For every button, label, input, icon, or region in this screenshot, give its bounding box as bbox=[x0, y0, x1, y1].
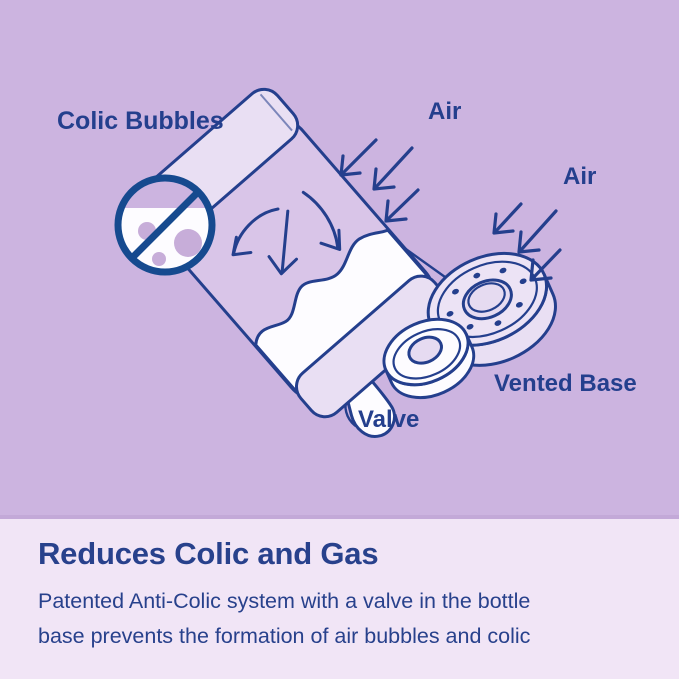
label-vented-base: Vented Base bbox=[494, 370, 637, 398]
caption-panel: Reduces Colic and Gas Patented Anti-Coli… bbox=[0, 519, 679, 679]
label-valve: Valve bbox=[358, 406, 419, 434]
illustration-svg bbox=[0, 0, 679, 517]
caption-title: Reduces Colic and Gas bbox=[38, 536, 378, 572]
label-air-top: Air bbox=[428, 98, 461, 126]
caption-line-2: base prevents the formation of air bubbl… bbox=[38, 624, 530, 649]
label-air-right: Air bbox=[563, 163, 596, 191]
illustration-panel: Colic Bubbles Air Air Valve Vented Base bbox=[0, 0, 679, 517]
caption-line-1: Patented Anti-Colic system with a valve … bbox=[38, 589, 530, 614]
label-colic-bubbles: Colic Bubbles bbox=[57, 107, 224, 136]
infographic-page: Colic Bubbles Air Air Valve Vented Base … bbox=[0, 0, 679, 679]
